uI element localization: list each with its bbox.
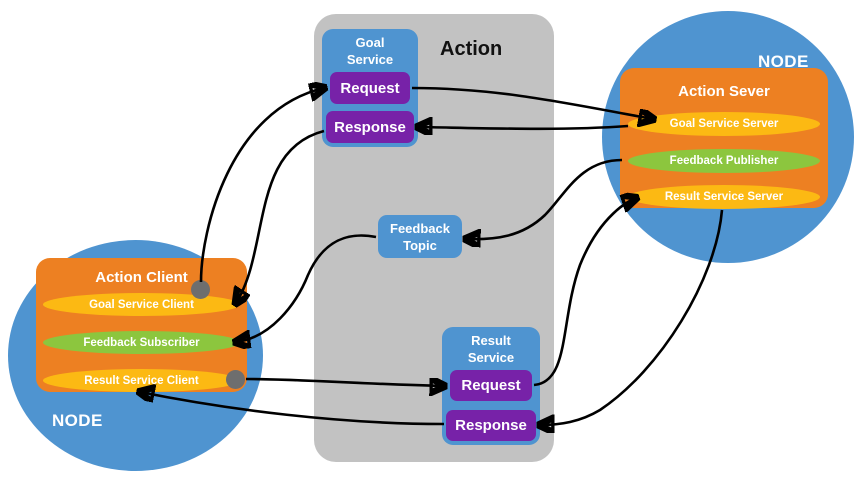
goal-service-response[interactable]: Response <box>326 111 414 143</box>
result-service-server-label: Result Service Server <box>665 191 783 203</box>
action-client-title: Action Client <box>36 269 247 286</box>
feedback-topic-label-line2: Topic <box>403 237 437 254</box>
feedback-topic-label-line1: Feedback <box>390 220 450 237</box>
goal-service-client[interactable]: Goal Service Client <box>43 293 240 316</box>
client-node-label: NODE <box>52 411 103 431</box>
diagram-canvas: Action NODE Action Sever Goal Service Se… <box>0 0 854 480</box>
goal-service-request[interactable]: Request <box>330 72 410 104</box>
goal-service-request-label: Request <box>340 80 399 97</box>
feedback-publisher[interactable]: Feedback Publisher <box>628 149 820 173</box>
result-service-response-label: Response <box>455 417 527 434</box>
result-service-client-label: Result Service Client <box>84 375 198 387</box>
action-server-title: Action Sever <box>620 83 828 100</box>
feedback-subscriber[interactable]: Feedback Subscriber <box>43 331 240 354</box>
result-service-client[interactable]: Result Service Client <box>43 369 240 392</box>
goal-connector-dot <box>191 280 210 299</box>
result-service-response[interactable]: Response <box>446 410 536 441</box>
goal-service-title: Goal Service <box>322 34 418 68</box>
goal-service-title-line2: Service <box>322 51 418 68</box>
action-panel-title: Action <box>440 38 560 61</box>
feedback-publisher-label: Feedback Publisher <box>670 155 779 167</box>
result-connector-dot <box>226 370 245 389</box>
result-service-request-label: Request <box>461 377 520 394</box>
edge-client-goal-to-request <box>201 88 324 282</box>
feedback-subscriber-label: Feedback Subscriber <box>83 337 199 349</box>
result-service-title: Result Service <box>442 332 540 366</box>
goal-service-server-label: Goal Service Server <box>670 118 779 130</box>
goal-service-response-label: Response <box>334 119 406 136</box>
goal-service-server[interactable]: Goal Service Server <box>628 112 820 136</box>
result-service-title-line2: Service <box>442 349 540 366</box>
feedback-topic[interactable]: Feedback Topic <box>378 215 462 258</box>
result-service-title-line1: Result <box>442 332 540 349</box>
result-service-request[interactable]: Request <box>450 370 532 401</box>
goal-service-title-line1: Goal <box>322 34 418 51</box>
goal-service-client-label: Goal Service Client <box>89 299 194 311</box>
edge-response-to-client-goal <box>236 131 324 303</box>
result-service-server[interactable]: Result Service Server <box>628 185 820 209</box>
